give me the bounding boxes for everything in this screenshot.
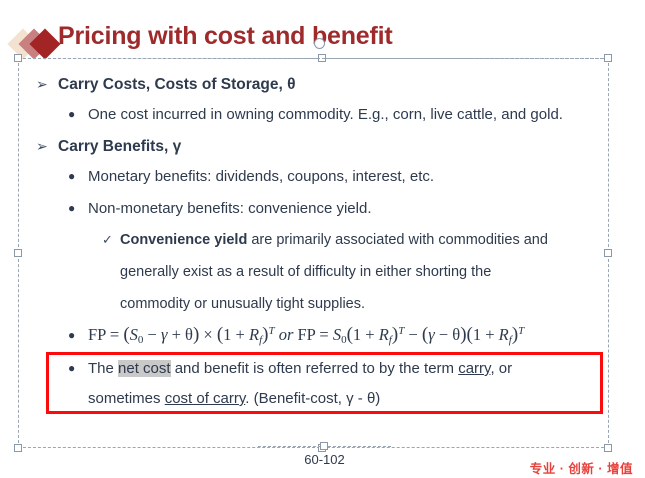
list-item[interactable]: ➢Carry Benefits, γ	[36, 138, 181, 156]
list-item-label: One cost incurred in owning commodity. E…	[88, 106, 563, 123]
list-item-label: Carry Costs, Costs of Storage, θ	[58, 76, 296, 93]
page-title: Pricing with cost and benefit	[58, 22, 393, 51]
list-item-continuation[interactable]: commodity or unusually tight supplies.	[120, 296, 365, 312]
formula-list-item[interactable]: ●FP = (S0 − γ + θ) × (1 + Rf)T or FP = S…	[68, 324, 524, 346]
convenience-yield-term: Convenience yield	[120, 232, 247, 248]
list-item[interactable]: ➢Carry Costs, Costs of Storage, θ	[36, 76, 296, 94]
list-item-label: are primarily associated with commoditie…	[247, 232, 548, 248]
list-item[interactable]: ●Non-monetary benefits: convenience yiel…	[68, 200, 372, 217]
disc-bullet-icon: ●	[68, 201, 88, 215]
list-item-label: Monetary benefits: dividends, coupons, i…	[88, 168, 434, 185]
list-item-label: commodity or unusually tight supplies.	[120, 296, 365, 312]
footer-handle-top-center[interactable]	[320, 442, 328, 450]
list-item[interactable]: ●Monetary benefits: dividends, coupons, …	[68, 168, 434, 185]
list-item-continuation[interactable]: generally exist as a result of difficult…	[120, 264, 491, 280]
list-item[interactable]: ✓Convenience yield are primarily associa…	[102, 232, 548, 248]
list-item-label: Carry Benefits, γ	[58, 138, 181, 155]
brand-slogan: 专业 · 创新 · 增值	[530, 458, 633, 477]
forward-price-formula: FP = (S0 − γ + θ) × (1 + Rf)T or FP = S0…	[88, 325, 524, 344]
check-bullet-icon: ✓	[102, 232, 120, 248]
arrow-bullet-icon: ➢	[36, 76, 58, 93]
page-number: 60-102	[258, 452, 391, 467]
disc-bullet-icon: ●	[68, 328, 88, 342]
disc-bullet-icon: ●	[68, 169, 88, 183]
red-emphasis-box	[46, 352, 603, 414]
title-rotation-handle[interactable]	[314, 38, 325, 49]
list-item-label: Non-monetary benefits: convenience yield…	[88, 200, 372, 217]
list-item-label: generally exist as a result of difficult…	[120, 264, 491, 280]
arrow-bullet-icon: ➢	[36, 138, 58, 155]
disc-bullet-icon: ●	[68, 107, 88, 121]
list-item[interactable]: ●One cost incurred in owning commodity. …	[68, 106, 563, 123]
